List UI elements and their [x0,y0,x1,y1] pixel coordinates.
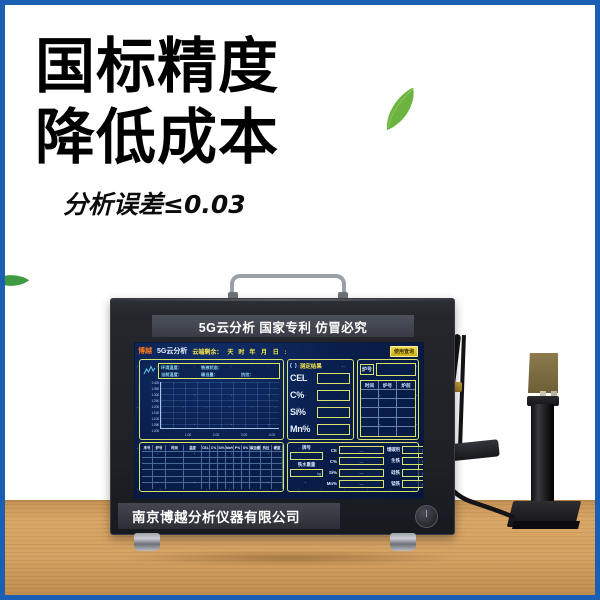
charge-range-si[interactable]: — [339,469,384,477]
cell [226,483,234,489]
charge-row-c: C% — 生铁 kg [325,456,424,466]
table-row[interactable] [142,483,283,489]
cell [272,452,283,457]
cell [272,483,283,489]
cell [166,464,184,469]
probe-sample-cup [528,353,558,393]
additive-label-ferrosilicon: 硅铁 [386,470,400,476]
y-tick-3: 1.250 [142,399,159,403]
col-hardness: 硬度 [272,445,283,451]
cell [184,470,202,475]
cloud-remaining-hours: 时 [238,347,244,356]
cell [397,418,415,426]
cell [210,458,218,463]
cell [184,483,202,489]
cooling-curve-panel: 环境温度： 铁液状态： 当前温度： 碳当量： 抗拉： 1.400 1.350 1… [139,359,284,440]
cell [226,458,234,463]
cell [202,458,210,463]
cell [226,464,234,469]
cell [218,458,226,463]
cell [242,452,250,457]
cell [218,477,226,482]
col-s: S% [242,445,250,451]
screen-title: 5G云分析 [157,346,187,356]
cell [210,452,218,457]
measurement-row-c: C% [290,388,350,404]
cell [234,458,242,463]
cell [261,470,272,475]
headline-line-1: 国标精度 [35,35,375,100]
usage-query-button[interactable]: 使用查询 [390,346,418,357]
cell [142,458,153,463]
cell [226,470,234,475]
additive-value-carburizer[interactable]: kg [402,446,424,454]
cloud-remaining-label: 云端剩余： [192,347,222,356]
cell [379,427,397,436]
charge-range-c[interactable]: — [339,457,384,465]
measurement-row-mn: Mn% [290,421,350,437]
leaf-corner-icon [0,268,31,295]
cell [242,464,250,469]
table-row[interactable] [361,390,415,399]
cell [184,458,202,463]
cell [242,477,250,482]
x-tick-2: 3.00 [236,433,252,437]
cloud-remaining-days: 天 [227,347,233,356]
col-heat: 炉号 [153,445,166,451]
cell [166,477,184,482]
cell [210,477,218,482]
cell [250,470,261,475]
cell [379,408,397,416]
cell [361,418,379,426]
cell [153,477,166,482]
charge-name-si: Si% [325,470,337,475]
additive-label-pig-iron: 生铁 [386,458,400,464]
col-c: C% [210,445,218,451]
cell [234,452,242,457]
charge-name-ce: CE [325,448,337,453]
col-si: Si% [218,445,226,451]
meta-current-temp: 当前温度： [159,372,199,378]
charge-row-si: Si% — 硅铁 kg [325,468,424,478]
cell [250,477,261,482]
cell [226,477,234,482]
value-cel[interactable] [317,373,350,384]
x-tick-0: 1.00 [180,433,196,437]
additive-value-ferromanganese[interactable]: kg [402,480,424,488]
cell [261,464,272,469]
cell [218,470,226,475]
device-shadow [125,550,455,566]
y-tick-8: 1.000 [142,429,159,433]
cell [361,408,379,416]
top-banner-text: 5G云分析 国家专利 仿冒必究 [199,317,368,336]
y-tick-7: 1.050 [142,423,159,427]
cell [218,483,226,489]
meta-tensile: 抗拉： [239,372,279,378]
cell [153,458,166,463]
device-foot-left [134,533,160,551]
value-si[interactable] [317,407,350,418]
heat-number-label: 炉号 [360,364,374,375]
col-p: P% [234,445,242,451]
cell [153,470,166,475]
y-tick-5: 1.150 [142,411,159,415]
cell [142,477,153,482]
charge-row-ce: CE — 增碳剂 kg [325,445,424,455]
col-ce: 碳当量 [250,445,261,451]
cell [210,470,218,475]
table-row[interactable] [361,399,415,408]
table-row[interactable] [361,408,415,417]
heat-number-row: 炉号 [360,362,416,377]
records-table-panel[interactable]: 序号 炉号 时间 温度 CEL C% Si% Mn% P% S% 碳当量 抗拉 … [139,442,284,492]
y-tick-2: 1.300 [142,393,159,397]
lcd-screen[interactable]: 博越 5G云分析 云端剩余： 天 时 年 月 日 : 使用查询 环境温度： 铁液… [134,342,424,499]
charge-rows: CE — 增碳剂 kg C% — 生铁 kg Si% — 硅铁 [325,445,416,489]
y-tick-6: 1.100 [142,417,159,421]
iron-weight-unit: kg [317,472,321,476]
brand-strip: 南京博越分析仪器有限公司 [118,503,340,529]
cell [184,452,202,457]
heat-col-number: 炉号 [379,381,397,389]
cell [379,418,397,426]
cell [210,483,218,489]
cell [218,464,226,469]
cell [361,427,379,436]
col-time: 时间 [166,445,184,451]
heat-col-pre: 炉前 [397,381,415,389]
col-temp: 温度 [184,445,202,451]
cell [234,470,242,475]
waveform-icon [143,364,156,377]
power-button[interactable] [415,505,438,528]
cell [166,458,184,463]
cell [234,483,242,489]
cell [361,399,379,407]
cell [142,483,153,489]
cell [261,477,272,482]
x-tick-3: 4.00 [264,433,280,437]
screen-header: 博越 5G云分析 云端剩余： 天 时 年 月 日 : 使用查询 [138,345,420,357]
charge-row-mn: Mn% — 锰铁 kg [325,479,424,489]
meta-ambient-temp: 环境温度： [159,365,199,371]
heat-number-input[interactable] [376,363,416,376]
additive-value-ferrosilicon[interactable]: kg [402,469,424,477]
records-table-header: 序号 炉号 时间 温度 CEL C% Si% Mn% P% S% 碳当量 抗拉 … [142,445,283,452]
cell [210,464,218,469]
cell [218,452,226,457]
col-tensile: 抗拉 [261,445,272,451]
cell [166,470,184,475]
measurement-results-panel: ( ) 测定结果 CEL C% Si% [287,359,354,440]
cell [250,452,261,457]
cell [184,477,202,482]
cell [397,408,415,416]
cell [250,464,261,469]
cell [226,452,234,457]
cell [142,464,153,469]
measurement-row-si: Si% [290,405,350,421]
chart-plot-area [160,382,279,429]
paren-left: ( [290,363,292,369]
iron-weight-label: 铁水重量 [290,462,323,468]
cell [242,483,250,489]
chart-meta-grid: 环境温度： 铁液状态： 当前温度： 碳当量： 抗拉： [158,363,280,379]
cell [272,458,283,463]
heat-history-table[interactable]: 时间 炉号 炉前 [360,380,416,437]
headline-line-2: 降低成本 [35,106,375,171]
label-c: C% [290,391,315,400]
x-tick-1: 2.00 [208,433,224,437]
y-tick-4: 1.200 [142,405,159,409]
cell [202,470,210,475]
cell [361,390,379,398]
additive-unit-pig-iron: kg [422,458,424,466]
heat-col-time: 时间 [361,381,379,389]
cell [184,464,202,469]
cell [242,458,250,463]
cell [397,427,415,436]
additive-value-pig-iron[interactable]: kg [402,457,424,465]
additive-label-carburizer: 增碳剂 [386,447,400,453]
meta-carbon-equivalent: 碳当量： [199,372,239,378]
cell [272,470,283,475]
col-index: 序号 [142,445,153,451]
cell [153,452,166,457]
paren-right: ) [295,363,297,369]
cell [166,452,184,457]
col-mn: Mn% [226,445,234,451]
records-table: 序号 炉号 时间 温度 CEL C% Si% Mn% P% S% 碳当量 抗拉 … [142,445,281,489]
subheadline: 分析误差≤0.03 [63,185,375,221]
grade-label: 牌号 [290,445,323,451]
company-name: 南京博越分析仪器有限公司 [132,506,300,526]
screen-logo: 博越 [138,346,152,356]
cell [153,464,166,469]
measurement-header: ( ) 测定结果 [290,361,351,370]
charge-range-mn[interactable]: — [339,480,384,488]
table-row[interactable] [361,418,415,427]
analyzer-device: 5G云分析 国家专利 仿冒必究 博越 5G云分析 云端剩余： 天 时 年 月 日… [110,298,455,535]
label-si: Si% [290,408,315,417]
charge-inputs: 牌号 铁水重量 kg [290,445,323,489]
heat-table-header: 时间 炉号 炉前 [361,381,415,390]
cell [202,477,210,482]
poster-root: 国标精度 降低成本 分析误差≤0.03 5G [0,0,600,600]
cell [242,470,250,475]
col-cel: CEL [202,445,210,451]
cell [250,483,261,489]
additive-unit-carburizer: kg [422,447,424,455]
charge-range-ce[interactable]: — [339,446,384,454]
device-foot-right [390,533,416,551]
cell [261,458,272,463]
additive-unit-ferrosilicon: kg [422,470,424,478]
label-mn: Mn% [290,425,315,434]
charge-name-mn: Mn% [325,481,337,486]
heat-number-panel: 炉号 时间 炉号 炉前 [357,359,419,440]
cell [272,477,283,482]
cell [261,483,272,489]
cell [234,477,242,482]
measurement-row-cel: CEL [290,371,350,387]
cell [379,390,397,398]
cell [379,399,397,407]
cell [261,452,272,457]
table-row[interactable] [361,427,415,436]
cell [153,483,166,489]
top-banner: 5G云分析 国家专利 仿冒必究 [152,315,414,337]
iron-weight-input[interactable]: kg [290,469,323,477]
cell [250,458,261,463]
cell [202,464,210,469]
grade-input[interactable] [290,452,323,460]
charge-calculation-panel: 牌号 铁水重量 kg CE — 增碳剂 kg C% [287,442,419,492]
meta-iron-state: 铁液状态： [199,365,239,371]
additive-label-ferromanganese: 锰铁 [386,481,400,487]
headline-block: 国标精度 降低成本 分析误差≤0.03 [35,35,375,221]
cell [142,470,153,475]
cell [234,464,242,469]
value-c[interactable] [317,390,350,401]
measurement-title: 测定结果 [300,362,322,370]
cell [202,452,210,457]
y-tick-0: 1.400 [142,381,159,385]
cell [397,390,415,398]
cell [166,483,184,489]
cell [142,452,153,457]
additive-unit-ferromanganese: kg [422,481,424,489]
leaf-icon [375,86,428,134]
value-mn[interactable] [317,424,350,435]
cell [202,483,210,489]
date-display: 年 月 日 : [249,347,288,356]
probe-column [531,404,554,509]
measurement-rows: CEL C% Si% Mn% [290,371,350,437]
cell [272,464,283,469]
label-cel: CEL [290,374,315,383]
y-tick-1: 1.350 [142,387,159,391]
cell [397,399,415,407]
charge-name-c: C% [325,459,337,464]
